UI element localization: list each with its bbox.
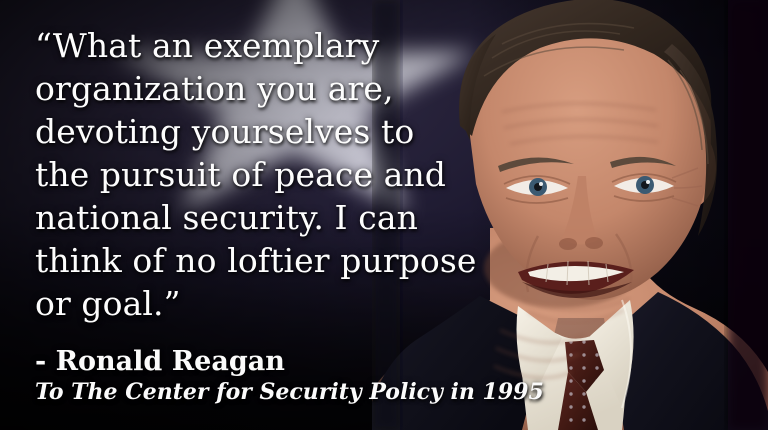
quote-line: or goal.” bbox=[35, 282, 465, 325]
quote-line: organization you are, bbox=[35, 67, 465, 110]
quote-line: national security. I can bbox=[35, 196, 465, 239]
quote-line: the pursuit of peace and bbox=[35, 153, 465, 196]
attribution-name: - Ronald Reagan bbox=[35, 346, 465, 378]
quote-line: think of no loftier purpose bbox=[35, 239, 465, 282]
quote-line: devoting yourselves to bbox=[35, 110, 465, 153]
quote-line: “What an exemplary bbox=[35, 24, 465, 67]
quote-text: “What an exemplary organization you are,… bbox=[35, 24, 465, 325]
attribution-block: - Ronald Reagan To The Center for Securi… bbox=[35, 346, 465, 406]
quote-poster: “What an exemplary organization you are,… bbox=[0, 0, 768, 430]
attribution-source: To The Center for Security Policy in 199… bbox=[35, 378, 465, 406]
